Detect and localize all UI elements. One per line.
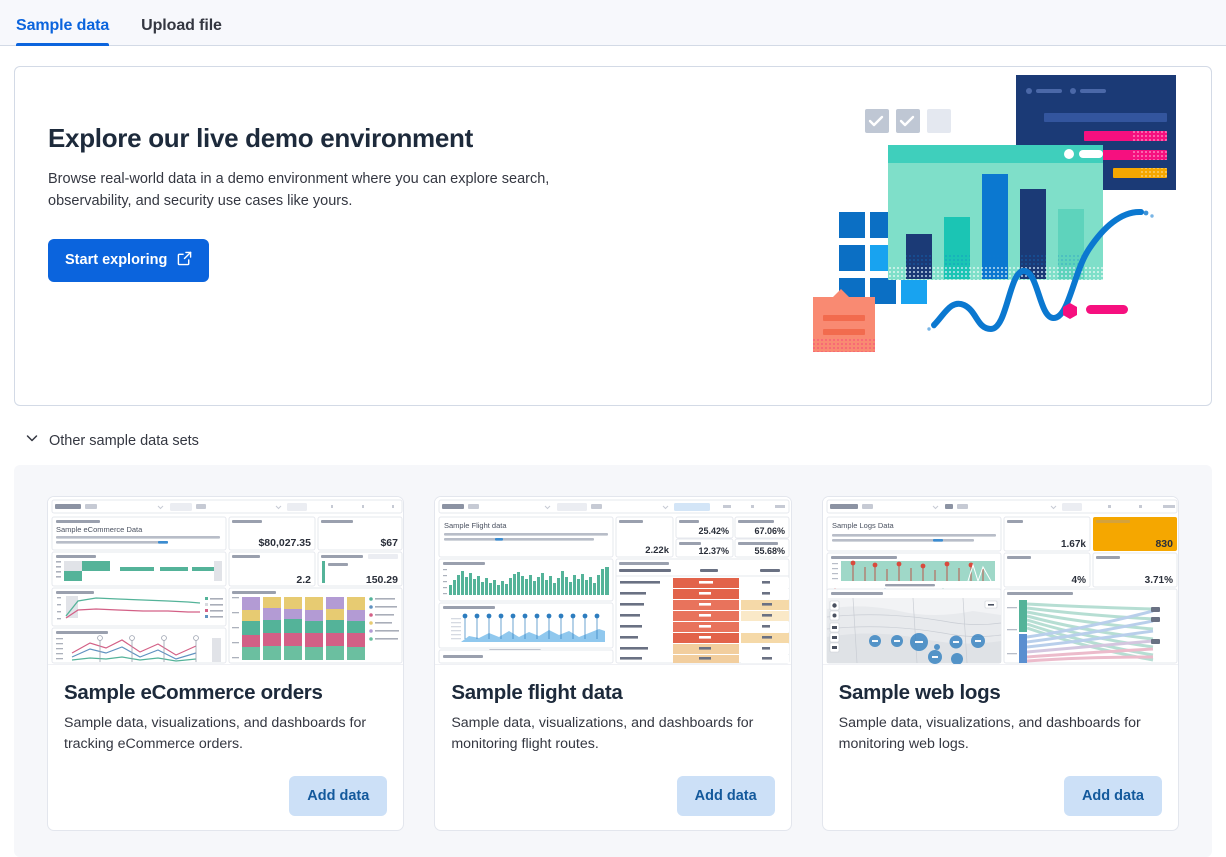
orange-note-card — [813, 289, 875, 352]
svg-text:2.22k: 2.22k — [646, 545, 670, 556]
svg-text:$80,027.35: $80,027.35 — [258, 537, 311, 549]
card-body: Sample flight data Sample data, visualiz… — [435, 665, 790, 830]
card-title: Sample flight data — [451, 681, 774, 705]
weblogs-dashboard-thumbnail: Sample Logs Data 1.67k 830 — [823, 497, 1178, 665]
start-exploring-button[interactable]: Start exploring — [48, 239, 209, 282]
tab-bar: Sample data Upload file — [0, 0, 1226, 46]
card-body: Sample web logs Sample data, visualizati… — [823, 665, 1178, 830]
demo-environment-hero-panel: Explore our live demo environment Browse… — [14, 66, 1212, 406]
external-link-icon — [177, 251, 192, 270]
svg-text:4%: 4% — [1071, 575, 1086, 586]
start-exploring-label: Start exploring — [65, 252, 167, 268]
card-sample-ecommerce-orders[interactable]: Sample eCommerce Data $80,027.35 $67 — [47, 496, 404, 831]
checkbox-group — [865, 109, 951, 133]
other-sample-data-sets-toggle[interactable]: Other sample data sets — [24, 430, 1212, 451]
hero-subtitle: Browse real-world data in a demo environ… — [48, 168, 568, 213]
svg-text:3.71%: 3.71% — [1144, 575, 1172, 586]
svg-text:Sample Flight data: Sample Flight data — [444, 521, 507, 530]
svg-text:150.29: 150.29 — [366, 574, 398, 586]
teal-dashboard-window — [888, 145, 1103, 280]
data-dashboard-illustration — [801, 67, 1191, 406]
add-data-button[interactable]: Add data — [1064, 776, 1162, 816]
card-sample-web-logs[interactable]: Sample Logs Data 1.67k 830 — [822, 496, 1179, 831]
tab-upload-file[interactable]: Upload file — [125, 18, 238, 45]
card-actions: Add data — [839, 754, 1162, 816]
card-title: Sample eCommerce orders — [64, 681, 387, 705]
card-actions: Add data — [64, 754, 387, 816]
flight-dashboard-thumbnail: Sample Flight data 2.22k 25.42% 67.0 — [435, 497, 790, 665]
svg-text:Sample eCommerce Data: Sample eCommerce Data — [56, 525, 143, 534]
svg-text:1.67k: 1.67k — [1061, 539, 1086, 550]
card-body: Sample eCommerce orders Sample data, vis… — [48, 665, 403, 830]
card-description: Sample data, visualizations, and dashboa… — [451, 713, 774, 754]
sample-data-cards-panel: Sample eCommerce Data $80,027.35 $67 — [14, 465, 1212, 857]
ecommerce-dashboard-thumbnail: Sample eCommerce Data $80,027.35 $67 — [48, 497, 403, 665]
tab-sample-data[interactable]: Sample data — [16, 18, 125, 45]
add-data-button[interactable]: Add data — [677, 776, 775, 816]
page-title: Explore our live demo environment — [48, 123, 588, 154]
svg-text:55.68%: 55.68% — [755, 546, 786, 556]
tab-sample-data-label: Sample data — [16, 17, 109, 34]
svg-text:25.42%: 25.42% — [699, 526, 730, 536]
card-sample-flight-data[interactable]: Sample Flight data 2.22k 25.42% 67.0 — [434, 496, 791, 831]
other-sample-data-sets-label: Other sample data sets — [49, 433, 199, 449]
card-description: Sample data, visualizations, and dashboa… — [839, 713, 1162, 754]
hero-text-block: Explore our live demo environment Browse… — [48, 123, 588, 282]
svg-text:830: 830 — [1155, 538, 1173, 550]
page-content: Explore our live demo environment Browse… — [0, 66, 1226, 857]
svg-text:Sample Logs Data: Sample Logs Data — [832, 521, 895, 530]
tab-upload-file-label: Upload file — [141, 17, 222, 34]
card-actions: Add data — [451, 754, 774, 816]
add-data-button[interactable]: Add data — [289, 776, 387, 816]
svg-text:$67: $67 — [380, 537, 398, 549]
card-title: Sample web logs — [839, 681, 1162, 705]
svg-text:2.2: 2.2 — [296, 574, 311, 586]
svg-text:12.37%: 12.37% — [699, 546, 730, 556]
chevron-down-icon — [24, 430, 40, 451]
svg-text:67.06%: 67.06% — [755, 526, 786, 536]
card-description: Sample data, visualizations, and dashboa… — [64, 713, 387, 754]
